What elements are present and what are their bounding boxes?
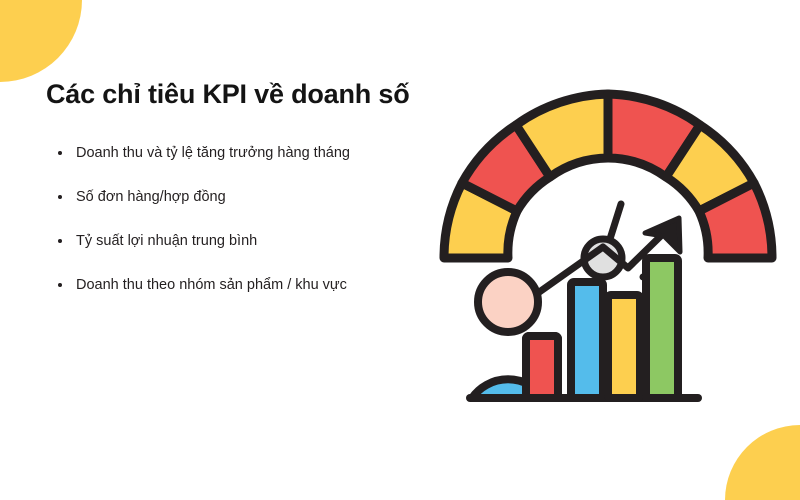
kpi-bullet-list: Doanh thu và tỷ lệ tăng trưởng hàng thán… — [46, 144, 446, 294]
list-item-label: Doanh thu và tỷ lệ tăng trưởng hàng thán… — [76, 145, 350, 161]
bullet-dot-icon — [58, 151, 62, 155]
bar-3 — [608, 295, 640, 398]
kpi-sales-dashboard-illustration — [432, 86, 784, 416]
person-head — [478, 272, 538, 332]
page-title: Các chỉ tiêu KPI về doanh số — [46, 78, 446, 110]
text-column: Các chỉ tiêu KPI về doanh số Doanh thu v… — [46, 78, 446, 295]
list-item-label: Doanh thu theo nhóm sản phẩm / khu vực — [76, 277, 347, 293]
list-item: Tỷ suất lợi nhuận trung bình — [46, 232, 446, 251]
list-item: Doanh thu và tỷ lệ tăng trưởng hàng thán… — [46, 144, 446, 163]
bar-1 — [526, 336, 558, 398]
bullet-dot-icon — [58, 195, 62, 199]
bar-4 — [646, 258, 678, 398]
slide-canvas: Các chỉ tiêu KPI về doanh số Doanh thu v… — [0, 0, 800, 500]
decor-blob-bottom-right — [725, 425, 800, 500]
list-item: Số đơn hàng/hợp đồng — [46, 188, 446, 207]
list-item-label: Số đơn hàng/hợp đồng — [76, 189, 226, 205]
bullet-dot-icon — [58, 283, 62, 287]
list-item-label: Tỷ suất lợi nhuận trung bình — [76, 233, 257, 249]
bullet-dot-icon — [58, 239, 62, 243]
decor-blob-top-left — [0, 0, 82, 82]
list-item: Doanh thu theo nhóm sản phẩm / khu vực — [46, 276, 446, 295]
bar-2 — [571, 282, 603, 398]
